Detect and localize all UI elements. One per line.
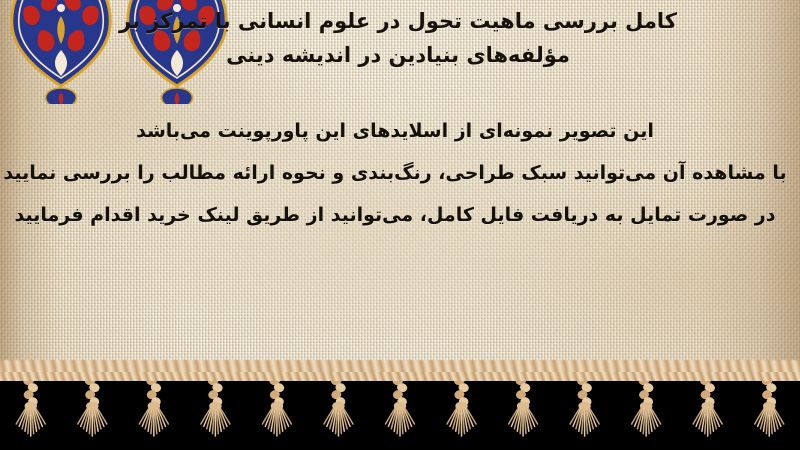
tassel <box>386 375 415 436</box>
tassel <box>78 375 107 436</box>
tassel <box>509 375 538 436</box>
tassel <box>693 375 722 436</box>
slide-title-line-1: کامل بررسی ماهیت تحول در علوم انسانی با … <box>0 4 796 38</box>
body-line-1: این تصویر نمونه‌ای از اسلایدهای این پاور… <box>0 110 790 152</box>
tassel-fringe-border <box>0 372 800 450</box>
slide-title: کامل بررسی ماهیت تحول در علوم انسانی با … <box>0 4 796 72</box>
tassel <box>324 375 353 436</box>
tassel <box>262 375 291 436</box>
tassel <box>755 375 784 436</box>
slide-canvas: کامل بررسی ماهیت تحول در علوم انسانی با … <box>0 0 800 450</box>
tassel <box>16 375 45 436</box>
fringe-tassels <box>0 372 800 450</box>
fringe-cord <box>0 372 800 381</box>
slide-body: این تصویر نمونه‌ای از اسلایدهای این پاور… <box>0 110 790 236</box>
slide-title-line-2: مؤلفه‌های بنیادین در اندیشه دینی <box>0 38 796 72</box>
tassel <box>632 375 661 436</box>
tassel <box>139 375 168 436</box>
tassel <box>447 375 476 436</box>
tassel <box>570 375 599 436</box>
body-line-3: در صورت تمایل به دریافت فایل کامل، می‌تو… <box>0 194 790 236</box>
tassel <box>201 375 230 436</box>
body-line-2: با مشاهده آن می‌توانید سبک طراحی، رنگ‌بن… <box>0 152 790 194</box>
